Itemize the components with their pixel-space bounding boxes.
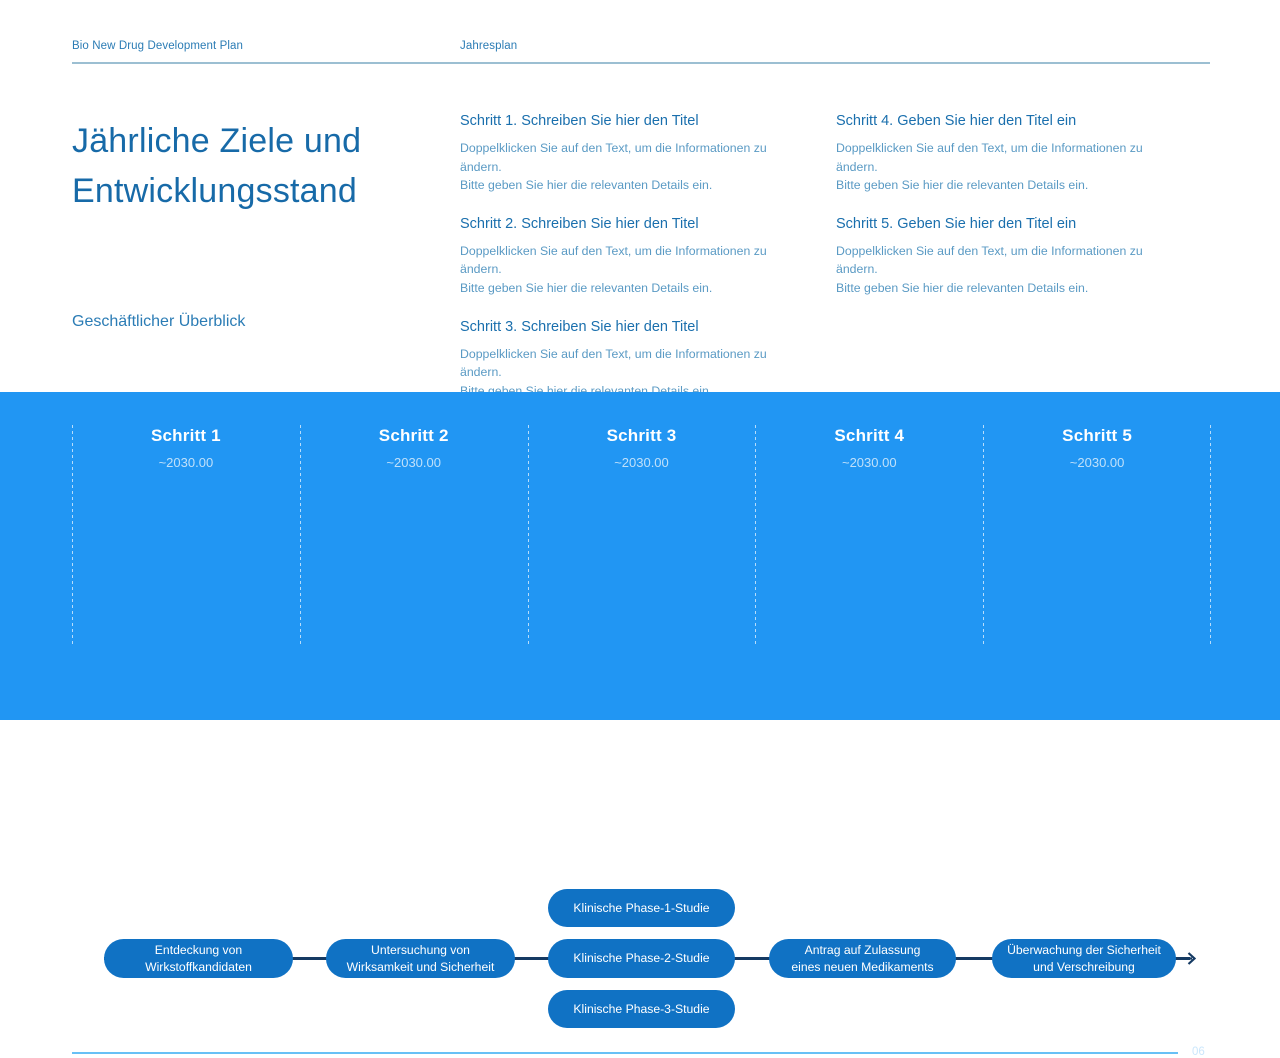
timeline-pill-line-2: eines neuen Medikaments bbox=[791, 959, 933, 976]
timeline-step-date: ~2030.00 bbox=[755, 455, 983, 470]
step-entry-body: Doppelklicken Sie auf den Text, um die I… bbox=[460, 242, 805, 298]
timeline-pill-line-1: Klinische Phase-1-Studie bbox=[573, 900, 709, 917]
step-entry[interactable]: Schritt 3. Schreiben Sie hier den Titel … bbox=[460, 319, 805, 401]
step-entry[interactable]: Schritt 4. Geben Sie hier den Titel ein … bbox=[836, 113, 1181, 195]
timeline-pill[interactable]: Untersuchung von Wirksamkeit und Sicherh… bbox=[326, 939, 515, 978]
step-entry-title: Schritt 2. Schreiben Sie hier den Titel bbox=[460, 216, 805, 232]
step-entry-body-line-2: Bitte geben Sie hier die relevanten Deta… bbox=[836, 279, 1181, 298]
step-entry-body-line-2: Bitte geben Sie hier die relevanten Deta… bbox=[836, 176, 1181, 195]
step-entry-body-line-1: Doppelklicken Sie auf den Text, um die I… bbox=[836, 139, 1181, 176]
timeline-column-4: Schritt 4 ~2030.00 bbox=[755, 392, 983, 720]
step-entry-title: Schritt 1. Schreiben Sie hier den Titel bbox=[460, 113, 805, 129]
step-entry-title: Schritt 4. Geben Sie hier den Titel ein bbox=[836, 113, 1181, 129]
text-column-middle: Schritt 1. Schreiben Sie hier den Titel … bbox=[460, 113, 805, 400]
timeline-pill[interactable]: Klinische Phase-3-Studie bbox=[548, 990, 735, 1028]
page-subtitle: Geschäftlicher Überblick bbox=[72, 313, 245, 331]
step-entry-body: Doppelklicken Sie auf den Text, um die I… bbox=[836, 139, 1181, 195]
step-entry[interactable]: Schritt 5. Geben Sie hier den Titel ein … bbox=[836, 216, 1181, 298]
step-entry-body: Doppelklicken Sie auf den Text, um die I… bbox=[836, 242, 1181, 298]
timeline-step-heading: Schritt 3 bbox=[528, 426, 756, 446]
step-entry-body-line-1: Doppelklicken Sie auf den Text, um die I… bbox=[460, 345, 805, 382]
header-kicker-label: Jahresplan bbox=[460, 40, 517, 52]
step-entry-body: Doppelklicken Sie auf den Text, um die I… bbox=[460, 139, 805, 195]
timeline-pill[interactable]: Entdeckung von Wirkstoffkandidaten bbox=[104, 939, 293, 978]
step-entry-title: Schritt 5. Geben Sie hier den Titel ein bbox=[836, 216, 1181, 232]
timeline-step-date: ~2030.00 bbox=[528, 455, 756, 470]
timeline-pill-line-2: Wirksamkeit und Sicherheit bbox=[347, 959, 495, 976]
timeline-step-heading: Schritt 2 bbox=[300, 426, 528, 446]
header-brand-label: Bio New Drug Development Plan bbox=[72, 40, 243, 52]
page-title: Jährliche Ziele und Entwicklungsstand bbox=[72, 116, 432, 216]
text-column-right: Schritt 4. Geben Sie hier den Titel ein … bbox=[836, 113, 1181, 298]
step-entry-title: Schritt 3. Schreiben Sie hier den Titel bbox=[460, 319, 805, 335]
timeline-column-1: Schritt 1 ~2030.00 bbox=[72, 392, 300, 720]
timeline-pill[interactable]: Antrag auf Zulassung eines neuen Medikam… bbox=[769, 939, 956, 978]
timeline-column-5: Schritt 5 ~2030.00 bbox=[983, 392, 1211, 720]
timeline-pill-line-2: Wirkstoffkandidaten bbox=[145, 959, 252, 976]
timeline-column-3: Schritt 3 ~2030.00 bbox=[528, 392, 756, 720]
slide-header: Bio New Drug Development Plan Jahresplan bbox=[72, 40, 1210, 68]
timeline-columns: Schritt 1 ~2030.00 Schritt 2 ~2030.00 Sc… bbox=[72, 392, 1211, 720]
timeline-step-date: ~2030.00 bbox=[300, 455, 528, 470]
page-title-line-1: Jährliche Ziele und bbox=[72, 122, 361, 160]
step-entry-body-line-1: Doppelklicken Sie auf den Text, um die I… bbox=[460, 139, 805, 176]
timeline-step-date: ~2030.00 bbox=[72, 455, 300, 470]
timeline-pill[interactable]: Klinische Phase-2-Studie bbox=[548, 939, 735, 978]
timeline-pill-line-1: Entdeckung von bbox=[145, 942, 252, 959]
timeline-pill-line-1: Klinische Phase-2-Studie bbox=[573, 950, 709, 967]
timeline-step-heading: Schritt 5 bbox=[983, 426, 1211, 446]
timeline-pill-line-2: und Verschreibung bbox=[1007, 959, 1161, 976]
timeline-step-heading: Schritt 4 bbox=[755, 426, 983, 446]
step-entry-body-line-1: Doppelklicken Sie auf den Text, um die I… bbox=[460, 242, 805, 279]
timeline-step-heading: Schritt 1 bbox=[72, 426, 300, 446]
step-entry[interactable]: Schritt 1. Schreiben Sie hier den Titel … bbox=[460, 113, 805, 195]
timeline-pill[interactable]: Überwachung der Sicherheit und Verschrei… bbox=[992, 939, 1176, 978]
page-number: 06 bbox=[1192, 1046, 1205, 1058]
page-title-line-2: Entwicklungsstand bbox=[72, 172, 357, 210]
timeline-pill-line-1: Klinische Phase-3-Studie bbox=[573, 1001, 709, 1018]
header-divider bbox=[72, 62, 1210, 64]
step-entry-body-line-2: Bitte geben Sie hier die relevanten Deta… bbox=[460, 279, 805, 298]
timeline-pill-line-1: Antrag auf Zulassung bbox=[791, 942, 933, 959]
timeline-column-2: Schritt 2 ~2030.00 bbox=[300, 392, 528, 720]
footer-divider bbox=[72, 1052, 1178, 1054]
timeline-step-date: ~2030.00 bbox=[983, 455, 1211, 470]
timeline-section: Schritt 1 ~2030.00 Schritt 2 ~2030.00 Sc… bbox=[0, 392, 1280, 720]
timeline-pill-line-1: Überwachung der Sicherheit bbox=[1007, 942, 1161, 959]
title-block: Jährliche Ziele und Entwicklungsstand Ge… bbox=[72, 116, 432, 216]
arrow-right-icon bbox=[1180, 950, 1196, 967]
step-entry[interactable]: Schritt 2. Schreiben Sie hier den Titel … bbox=[460, 216, 805, 298]
upper-content-section: Jährliche Ziele und Entwicklungsstand Ge… bbox=[0, 68, 1280, 392]
timeline-pill[interactable]: Klinische Phase-1-Studie bbox=[548, 889, 735, 927]
step-entry-body-line-2: Bitte geben Sie hier die relevanten Deta… bbox=[460, 176, 805, 195]
timeline-pill-line-1: Untersuchung von bbox=[347, 942, 495, 959]
step-entry-body-line-1: Doppelklicken Sie auf den Text, um die I… bbox=[836, 242, 1181, 279]
